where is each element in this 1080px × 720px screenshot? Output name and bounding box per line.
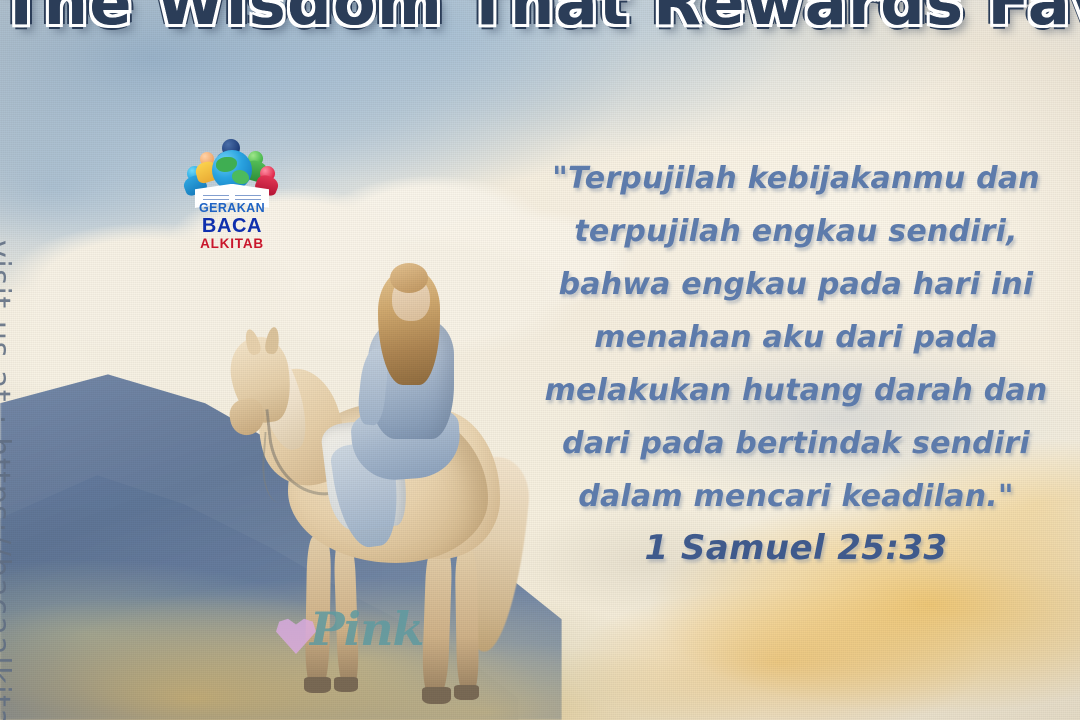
verse-line: dalam mencari keadilan.": [540, 470, 1052, 523]
verse-text-block: "Terpujilah kebijakanmu dan terpujilah e…: [540, 152, 1052, 523]
verse-reference: 1 Samuel 25:33: [540, 528, 1052, 568]
logo-wordmark: GERAKAN BACA ALKITAB: [186, 202, 278, 250]
logo-line-gerakan: GERAKAN: [186, 202, 278, 215]
logo-line-alkitab: ALKITAB: [186, 237, 278, 251]
verse-line: melakukan hutang darah dan: [540, 364, 1052, 417]
watermark: Pink: [276, 604, 426, 664]
poster-canvas: Watercolor painting of a woman in a blue…: [0, 0, 1080, 720]
verse-line: menahan aku dari pada: [540, 311, 1052, 364]
watermark-text: Pink: [310, 602, 423, 656]
verse-line: bahwa engkau pada hari ini: [540, 258, 1052, 311]
verse-line: dari pada bertindak sendiri: [540, 417, 1052, 470]
gerakan-baca-alkitab-logo[interactable]: GERAKAN BACA ALKITAB: [186, 140, 278, 246]
logo-line-baca: BACA: [186, 216, 278, 236]
verse-line: "Terpujilah kebijakanmu dan: [540, 152, 1052, 205]
page-title: The Wisdom That Rewards Favor: [0, 0, 1080, 39]
verse-line: terpujilah engkau sendiri,: [540, 205, 1052, 258]
site-url-vertical[interactable]: visit us at : https://bacaalkitab.c: [0, 240, 16, 720]
